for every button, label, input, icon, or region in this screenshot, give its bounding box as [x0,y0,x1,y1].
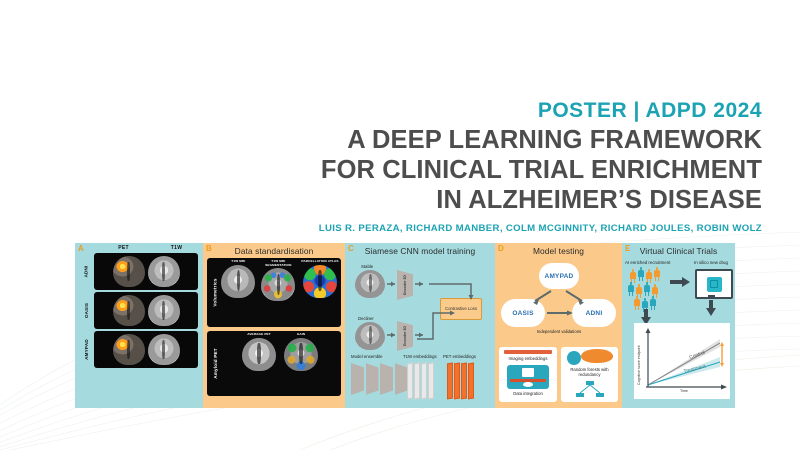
image-cell: T1W MRI [221,260,255,324]
label-data-integration: Data integration [499,391,557,396]
scan-pair [94,292,198,329]
panel-e-letter: E [625,244,630,253]
cohort-label-amypad: AMYPAD [79,331,94,368]
poster-figure-strip: A PET T1W ADNI OASIS [75,243,735,408]
cohort-label-text: OASIS [84,303,89,318]
label-model-ensemble: Model ensemble [351,354,383,359]
author-list: LUIS R. PERAZA, RICHARD MANBER, COLM MCG… [202,223,762,234]
t1w-brain-scan [148,256,180,287]
t1w-mri-image [221,265,255,298]
t1w-segmentation-image [261,268,295,301]
cohort-label-text: ADNI [84,265,89,277]
image-cell: GAIN [284,333,318,393]
image-caption: T1W MRI [231,260,245,264]
image-cell: PARCELLATION ATLAS [301,260,338,324]
cohort-row: OASIS [79,292,198,329]
model-ensemble-stack [351,363,408,395]
panel-a-letter: A [78,244,84,253]
page-title: A DEEP LEARNING FRAMEWORK FOR CLINICAL T… [202,126,762,215]
image-cell: AVERAGE PET [242,333,276,393]
panel-c-siamese-cnn: C Siamese CNN model training Stable Decl… [345,243,495,408]
title-line-2: FOR CLINICAL TRIAL ENRICHMENT [202,156,762,186]
t1w-brain-scan [148,295,180,326]
chart-x-label: Time [680,389,688,393]
cohort-label-adni: ADNI [79,253,94,290]
scan-pair [94,253,198,290]
imaging-embeddings-card: Imaging embeddings Data integration [499,347,557,402]
label-independent-validations: Independent validations [533,329,585,334]
label-random-forests: Random forests with redundancy [563,367,616,378]
virtual-trial-chart: Control Treatment Cognitive score endpoi… [634,323,730,399]
svg-text:Control: Control [689,350,706,361]
decision-tree-icon [573,381,607,400]
cohort-label-text: AMYPAD [84,339,89,360]
panel-a-rows: ADNI OASIS AMYPAD [79,253,198,368]
column-header-t1w: T1W [150,245,203,251]
amyloid-pet-images: AVERAGE PET GAIN [221,333,339,393]
scan-pair [94,331,198,368]
gain-image [284,338,318,371]
panel-b-data-standardisation: B Data standardisation Volumetrics T1W M… [203,243,345,408]
panel-a-column-headers: PET T1W [97,245,203,251]
image-caption: AVERAGE PET [247,333,271,337]
image-caption: T1W MRI SEGMENTATION [258,260,298,267]
pet-brain-scan [113,334,145,365]
random-forests-card: Random forests with redundancy [561,347,618,402]
pet-brain-scan [113,256,145,287]
amyloid-pet-row: Amyloid PET AVERAGE PET GAIN [207,331,341,396]
image-cell: T1W MRI SEGMENTATION [258,260,298,324]
panel-c-diagram: Stable Decliner Encoder 3D Encoder 3D Co… [345,243,495,408]
row-label-volumetrics: Volumetrics [209,260,221,324]
title-line-1: A DEEP LEARNING FRAMEWORK [202,126,762,156]
cohort-row: AMYPAD [79,331,198,368]
brand-name: IXICO [61,16,121,37]
label-t1w-embeddings: T1W embeddings [403,354,437,359]
t1w-embeddings-stack [407,363,434,399]
data-integration-graphic-icon [507,365,549,389]
embedding-bar-icon [504,350,552,354]
poster-slide: IXICO POSTER | ADPD 2024 A DEEP LEARNING… [0,0,800,450]
scikit-circle-icon [567,351,581,365]
title-block: POSTER | ADPD 2024 A DEEP LEARNING FRAME… [202,99,762,234]
image-caption: PARCELLATION ATLAS [301,260,338,264]
volumetrics-row: Volumetrics T1W MRI T1W MRI SEGMENTATION… [207,258,341,327]
trial-projection-plot: Control Treatment [634,323,730,399]
label-imaging-embeddings: Imaging embeddings [499,356,557,361]
panel-b-title: Data standardisation [203,243,345,256]
row-label-amyloid-pet: Amyloid PET [209,333,221,393]
cohort-row: ADNI [79,253,198,290]
image-caption: GAIN [297,333,305,337]
poster-kicker: POSTER | ADPD 2024 [202,99,762,123]
panel-d-model-testing: D Model testing AMYPAD OASIS ADNI [495,243,622,408]
pet-brain-scan [113,295,145,326]
panel-e-virtual-clinical-trials: E Virtual Clinical Trials AI enriched re… [622,243,735,408]
panel-a-cohort-scans: A PET T1W ADNI OASIS [75,243,203,408]
chart-y-label: Cognitive score endpoint [637,345,641,385]
panel-c-letter: C [348,244,354,253]
volumetrics-images: T1W MRI T1W MRI SEGMENTATION PARCELLATIO… [221,260,339,324]
scikit-learn-logo-icon [581,349,613,363]
column-header-pet: PET [97,245,150,251]
waveform-bars-icon [17,13,52,39]
brand-logo[interactable]: IXICO [17,13,121,39]
label-pet-embeddings: PET embeddings [443,354,476,359]
panel-d-letter: D [498,244,504,253]
row-label-text: Amyloid PET [213,348,218,379]
title-line-3: IN ALZHEIMER’S DISEASE [202,186,762,216]
panel-b-letter: B [206,244,212,253]
t1w-brain-scan [148,334,180,365]
parcellation-atlas-image [303,265,337,298]
cohort-label-oasis: OASIS [79,292,94,329]
average-pet-image [242,338,276,371]
row-label-text: Volumetrics [213,278,218,306]
pet-embeddings-stack [447,363,474,399]
